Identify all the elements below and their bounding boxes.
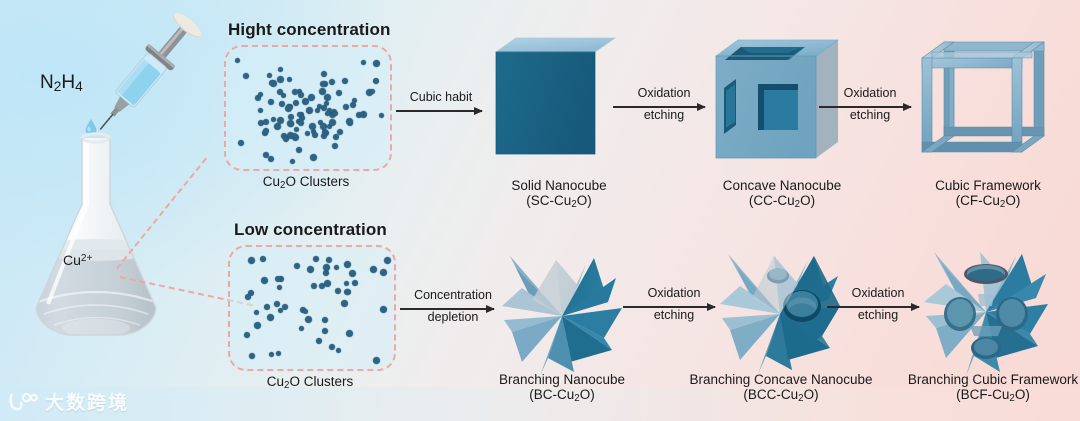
shape-framework-cube — [908, 24, 1060, 174]
cluster-dot — [342, 78, 348, 84]
cluster-box-high — [224, 45, 392, 171]
cluster-dot — [290, 159, 295, 164]
cluster-dot — [360, 111, 367, 118]
cluster-dot — [261, 277, 268, 284]
arrow-label-ox-etch-high-2b: etching — [818, 108, 922, 122]
cluster-dot — [308, 94, 315, 101]
arrow-label-ox-etch-low-1-line1: Oxidation — [648, 286, 701, 300]
product-name-solid-nanocube: Solid Nanocube — [469, 178, 649, 193]
cluster-dot — [287, 77, 292, 82]
syringe-icon — [86, 4, 216, 134]
cluster-dot — [244, 332, 250, 338]
cluster-dot — [380, 306, 387, 313]
cluster-dot — [370, 89, 375, 94]
cluster-dot — [334, 265, 339, 270]
cluster-dot — [238, 140, 244, 146]
product-caption-concave-nanocube: Concave Nanocube (CC-Cu2O) — [692, 178, 872, 212]
formula-post-bcc: O) — [804, 387, 819, 402]
arrow-label-ox-etch-high-1-line1: Oxidation — [638, 86, 691, 100]
cluster-dot — [333, 111, 338, 116]
cluster-dot — [310, 154, 317, 161]
cluster-caption-high-pre: Cu — [263, 174, 280, 189]
cluster-dot — [260, 256, 266, 262]
arrow-label-conc-depletion-line2: depletion — [428, 310, 479, 324]
cluster-dot — [294, 127, 299, 132]
cluster-dot — [343, 104, 349, 110]
watermark: 大数跨境 — [8, 388, 129, 415]
arrow-label-ox-etch-high-1: Oxidation — [612, 86, 716, 100]
product-formula-branching-cubic-framework: (BCF-Cu2O) — [886, 387, 1080, 406]
formula-post-bcf: O) — [1015, 387, 1030, 402]
cluster-dot — [277, 117, 284, 124]
erlenmeyer-flask-icon — [20, 132, 190, 342]
cluster-caption-high: Cu2O Clusters — [224, 174, 388, 193]
cluster-dot — [344, 281, 349, 286]
cluster-dot — [264, 304, 270, 310]
cluster-dot — [319, 88, 326, 95]
cluster-dot — [335, 288, 341, 294]
product-formula-branching-nanocube: (BC-Cu2O) — [472, 387, 652, 406]
cluster-dot — [352, 98, 357, 103]
cluster-dot — [268, 99, 274, 105]
product-formula-branching-concave-nanocube: (BCC-Cu2O) — [665, 387, 897, 406]
figure-canvas: N2H4 — [0, 0, 1080, 421]
row-heading-high: Hight concentration — [228, 20, 390, 40]
formula-pre-cf: (CF-Cu — [956, 193, 1000, 208]
cluster-dot — [337, 129, 343, 135]
cluster-caption-high-post: O Clusters — [285, 174, 349, 189]
cluster-dot — [346, 330, 353, 337]
cluster-box-low — [228, 245, 396, 371]
cluster-dot — [373, 60, 380, 67]
cluster-dot — [346, 118, 353, 125]
product-formula-cubic-framework: (CF-Cu2O) — [898, 193, 1078, 212]
arrow-label-conc-depletion-line1: Concentration — [414, 288, 492, 302]
cluster-dot — [263, 119, 269, 125]
cluster-dot — [277, 285, 282, 290]
cluster-dot — [277, 76, 284, 83]
cluster-dot — [293, 100, 299, 106]
arrow-label-cubic-habit-line1: Cubic habit — [410, 90, 473, 104]
cluster-dot — [306, 107, 313, 114]
cluster-dot — [350, 102, 356, 108]
product-caption-cubic-framework: Cubic Framework (CF-Cu2O) — [898, 178, 1078, 212]
cluster-dot — [322, 328, 328, 334]
product-caption-solid-nanocube: Solid Nanocube (SC-Cu2O) — [469, 178, 649, 212]
cluster-dot — [324, 101, 329, 106]
formula-post-cc: O) — [800, 193, 815, 208]
cluster-dot — [332, 143, 338, 149]
watermark-text: 大数跨境 — [45, 388, 129, 415]
formula-pre-bcf: (BCF-Cu — [956, 387, 1009, 402]
cluster-dot — [380, 269, 387, 276]
cluster-dot — [254, 310, 259, 315]
shape-branching-framework-cube — [908, 244, 1064, 386]
cluster-dot — [323, 264, 330, 271]
product-name-cubic-framework: Cubic Framework — [898, 178, 1078, 193]
product-caption-branching-concave-nanocube: Branching Concave Nanocube (BCC-Cu2O) — [665, 372, 897, 406]
product-name-branching-concave-nanocube: Branching Concave Nanocube — [665, 372, 897, 387]
cluster-dot — [315, 108, 320, 113]
cluster-dot — [321, 133, 327, 139]
cluster-dot — [299, 326, 304, 331]
cluster-dot — [352, 280, 358, 286]
cluster-dot — [384, 257, 391, 264]
cluster-dot — [312, 132, 318, 138]
cluster-dot — [296, 147, 302, 153]
cluster-caption-low-pre: Cu — [267, 374, 284, 389]
cluster-dot — [297, 112, 302, 117]
cluster-dot — [349, 270, 356, 277]
cluster-dot — [321, 71, 327, 77]
row-heading-low: Low concentration — [234, 220, 387, 240]
watermark-logo-icon — [8, 391, 38, 413]
cluster-dot — [267, 314, 274, 321]
cluster-dot — [303, 309, 308, 314]
arrow-high-1 — [396, 110, 482, 112]
product-name-branching-cubic-framework: Branching Cubic Framework — [886, 372, 1080, 387]
arrow-label-ox-etch-high-2-line2: etching — [850, 108, 890, 122]
formula-pre-bc: (BC-Cu — [529, 387, 574, 402]
cluster-dot — [267, 73, 272, 78]
formula-pre-bcc: (BCC-Cu — [743, 387, 798, 402]
cluster-dot — [269, 352, 274, 357]
formula-pre-sc: (SC-Cu — [526, 193, 571, 208]
cluster-dot — [270, 80, 277, 87]
cluster-dot — [276, 351, 281, 356]
cluster-dot — [248, 257, 255, 264]
arrow-label-ox-etch-high-1-line2: etching — [644, 108, 684, 122]
solution-ion-label: Cu2+ — [63, 252, 92, 268]
arrow-label-cubic-habit: Cubic habit — [395, 90, 487, 104]
cluster-dot — [329, 79, 335, 85]
reagent-base: N — [40, 72, 54, 93]
cluster-dot — [235, 58, 240, 63]
cluster-dot — [311, 283, 317, 289]
cluster-dot — [307, 266, 314, 273]
cluster-dot — [258, 92, 263, 97]
cluster-caption-low-post: O Clusters — [289, 374, 353, 389]
cluster-dot — [361, 60, 366, 65]
cluster-dot — [344, 261, 351, 268]
cluster-dot — [329, 119, 336, 126]
cluster-dots-low — [230, 247, 394, 369]
cluster-dot — [274, 301, 280, 307]
product-caption-branching-nanocube: Branching Nanocube (BC-Cu2O) — [472, 372, 652, 406]
cluster-dot — [305, 316, 312, 323]
cluster-dot — [316, 338, 322, 344]
product-name-concave-nanocube: Concave Nanocube — [692, 178, 872, 193]
formula-post-cf: O) — [1005, 193, 1020, 208]
cluster-dot — [254, 322, 261, 329]
product-caption-branching-cubic-framework: Branching Cubic Framework (BCF-Cu2O) — [886, 372, 1080, 406]
cluster-dot — [341, 300, 348, 307]
reagent-label: N2H4 — [40, 72, 83, 94]
cluster-dot — [336, 90, 342, 96]
cluster-dot — [379, 113, 384, 118]
arrow-label-ox-etch-low-2-line1: Oxidation — [852, 286, 905, 300]
formula-post-sc: O) — [577, 193, 592, 208]
ion-charge: 2+ — [81, 253, 93, 264]
product-name-branching-nanocube: Branching Nanocube — [472, 372, 652, 387]
cluster-dot — [292, 89, 298, 95]
cluster-dot — [263, 128, 269, 134]
cluster-dot — [287, 120, 294, 127]
formula-post-bc: O) — [580, 387, 595, 402]
cluster-dot — [279, 101, 285, 107]
cluster-dot — [282, 304, 288, 310]
cluster-dots-high — [226, 47, 390, 169]
cluster-dot — [305, 131, 310, 136]
cluster-dot — [326, 257, 332, 263]
cluster-dot — [325, 111, 330, 116]
cluster-dot — [245, 294, 251, 300]
cluster-caption-low: Cu2O Clusters — [228, 374, 392, 393]
cluster-dot — [336, 348, 341, 353]
reagent-sub-2: 4 — [75, 79, 83, 94]
cluster-dot — [329, 344, 335, 350]
cluster-dot — [268, 156, 274, 162]
arrow-label-ox-etch-high-1b: etching — [612, 108, 716, 122]
cluster-dot — [271, 117, 276, 122]
cluster-dot — [324, 280, 331, 287]
cluster-dot — [370, 266, 377, 273]
cluster-dot — [313, 256, 319, 262]
arrow-label-ox-etch-low-2-line2: etching — [858, 308, 898, 322]
arrow-label-ox-etch-low-1-line2: etching — [654, 308, 694, 322]
cluster-dot — [322, 317, 328, 323]
product-formula-concave-nanocube: (CC-Cu2O) — [692, 193, 872, 212]
cluster-dot — [298, 120, 304, 126]
ion-base: Cu — [63, 252, 81, 268]
cluster-dot — [278, 67, 283, 72]
cluster-dot — [285, 105, 292, 112]
cluster-dot — [288, 114, 294, 120]
shape-branching-cube — [482, 246, 642, 386]
reagent-mid: H — [61, 72, 75, 93]
cluster-dot — [249, 353, 255, 359]
cluster-dot — [309, 123, 316, 130]
cluster-dot — [258, 108, 263, 113]
cluster-dot — [373, 357, 380, 364]
formula-pre-cc: (CC-Cu — [749, 193, 795, 208]
arrow-label-ox-etch-high-2-line1: Oxidation — [844, 86, 897, 100]
arrow-label-ox-etch-high-2: Oxidation — [818, 86, 922, 100]
cluster-dot — [294, 263, 300, 269]
cluster-dot — [243, 73, 249, 79]
product-formula-solid-nanocube: (SC-Cu2O) — [469, 193, 649, 212]
cluster-dot — [373, 78, 379, 84]
